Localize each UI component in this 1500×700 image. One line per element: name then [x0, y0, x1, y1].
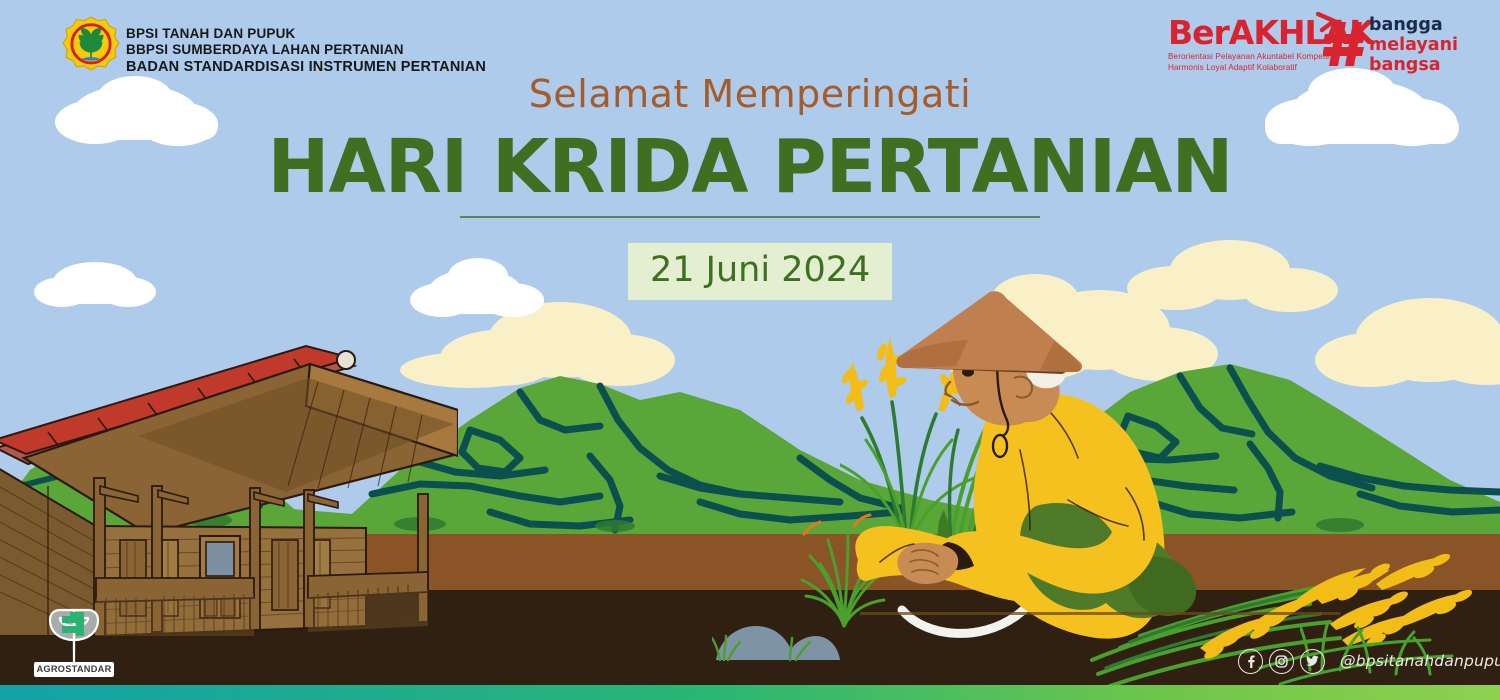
- facebook-glyph: [1245, 655, 1256, 668]
- wooden-house: [0, 336, 458, 636]
- social-handle: @bpsitanahdanpupuk: [1340, 652, 1500, 670]
- date-badge: 21 Juni 2024: [628, 243, 892, 300]
- berakhlak-logo: BerAKHLAK Berorientasi Pelayanan Akuntab…: [1168, 16, 1338, 78]
- berakhlak-wordmark: BerAKHLAK: [1168, 16, 1338, 49]
- instagram-glyph: [1275, 655, 1288, 668]
- facebook-icon[interactable]: [1238, 649, 1263, 674]
- bottom-gradient-stripe: [0, 685, 1500, 700]
- bangga-line-1: bangga: [1369, 16, 1445, 36]
- banner-root: BPSI TANAH DAN PUPUK BBPSI SUMBERDAYA LA…: [0, 0, 1500, 700]
- organization-names: BPSI TANAH DAN PUPUK BBPSI SUMBERDAYA LA…: [126, 26, 486, 77]
- berakhlak-tagline-1: Berorientasi Pelayanan Akuntabel Kompete…: [1168, 52, 1338, 63]
- greeting-text: Selamat Memperingati: [0, 72, 1500, 116]
- twitter-glyph: [1306, 655, 1319, 667]
- org-line-1: BPSI TANAH DAN PUPUK: [126, 26, 486, 42]
- instagram-icon[interactable]: [1269, 649, 1294, 674]
- date-text: 21 Juni 2024: [650, 250, 870, 290]
- org-line-2: BBPSI SUMBERDAYA LAHAN PERTANIAN: [126, 42, 486, 58]
- title-divider: [460, 216, 1040, 218]
- twitter-icon[interactable]: [1300, 649, 1325, 674]
- agrostandar-label: AGROSTANDAR: [34, 662, 114, 677]
- bangga-melayani-bangsa-logo: bangga melayani bangsa: [1325, 16, 1445, 76]
- agrostandar-logo: AGROSTANDAR: [30, 606, 118, 680]
- social-bar: @bpsitanahdanpupuk: [1238, 648, 1500, 674]
- agriculture-emblem-icon: [62, 16, 120, 74]
- hashtag-icon: [1323, 20, 1367, 68]
- bangga-line-2: melayani: [1369, 36, 1445, 56]
- rocks: [712, 618, 842, 670]
- furrow-line: [860, 612, 1340, 615]
- page-title: HARI KRIDA PERTANIAN: [0, 130, 1500, 204]
- agrostandar-leaf-icon: [40, 606, 108, 666]
